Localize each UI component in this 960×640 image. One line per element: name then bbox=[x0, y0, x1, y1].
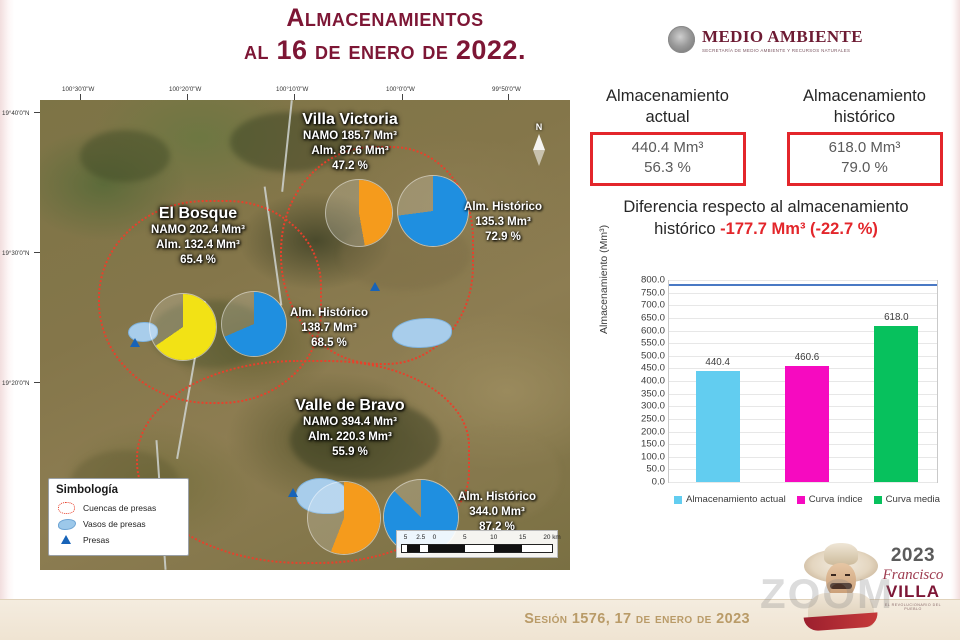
dam-label-el-bosque: El Bosque NAMO 202.4 Mm³ Alm. 132.4 Mm³ … bbox=[98, 204, 298, 268]
chart-y-tick-15: 750.0 bbox=[641, 287, 665, 298]
chart-bar-1[interactable] bbox=[785, 366, 829, 482]
storage-bar-chart: Almacenamiento (Mm³) 0.050.0100.0150.020… bbox=[600, 272, 950, 540]
lon-tick-4: 99°50'0"W bbox=[492, 86, 521, 93]
chart-bar-label-1: 460.6 bbox=[775, 352, 839, 363]
compass-rose-icon: N bbox=[522, 122, 556, 168]
hist-label-villa-victoria: Alm. Histórico 135.3 Mm³ 72.9 % bbox=[438, 200, 568, 245]
map-axis-frame: 100°30'0"W 100°20'0"W 100°10'0"W 100°0'0… bbox=[14, 82, 576, 588]
chart-gridline-16: 800.0 bbox=[669, 280, 937, 281]
basin-outline-icon bbox=[56, 501, 76, 514]
map-panel: 100°30'0"W 100°20'0"W 100°10'0"W 100°0'0… bbox=[14, 82, 576, 588]
session-label: Sesión 1576, 17 de enero de 2023 bbox=[524, 611, 750, 627]
pie-current-el-bosque bbox=[150, 294, 216, 360]
chart-y-axis-label: Almacenamiento (Mm³) bbox=[598, 225, 610, 334]
kpi-historic-box: 618.0 Mm³ 79.0 % bbox=[787, 132, 943, 186]
chart-y-tick-13: 650.0 bbox=[641, 312, 665, 323]
kpi-historic-heading-1: Almacenamiento bbox=[777, 86, 952, 107]
chart-y-tick-9: 450.0 bbox=[641, 363, 665, 374]
dam-namo-villa-victoria: NAMO 185.7 Mm³ bbox=[230, 129, 470, 144]
chart-bar-label-0: 440.4 bbox=[686, 357, 750, 368]
hist-pct-el-bosque: 68.5 % bbox=[264, 336, 394, 351]
slide-footer: Sesión 1576, 17 de enero de 2023 2023 Fr… bbox=[0, 599, 960, 640]
chart-y-tick-10: 500.0 bbox=[641, 350, 665, 361]
title-line-1: Almacenamientos bbox=[170, 2, 600, 34]
chart-legend: Almacenamiento actual Curva índice Curva… bbox=[666, 494, 948, 505]
dam-namo-valle-de-bravo: NAMO 394.4 Mm³ bbox=[230, 415, 470, 430]
chart-reference-line-namo bbox=[669, 284, 937, 286]
gov-logo-text: MEDIO AMBIENTE SECRETARÍA DE MEDIO AMBIE… bbox=[702, 27, 863, 53]
scale-tick-4: 10 bbox=[490, 534, 497, 541]
chart-legend-label-2: Curva media bbox=[886, 494, 940, 505]
hist-pct-villa-victoria: 72.9 % bbox=[438, 230, 568, 245]
pie-current-valle-de-bravo bbox=[308, 482, 380, 554]
dam-marker-el-bosque bbox=[130, 338, 140, 347]
gov-logo-title: MEDIO AMBIENTE bbox=[702, 27, 863, 47]
lat-tick-0: 19°40'0"N bbox=[2, 110, 30, 117]
scale-tick-1: 2.5 bbox=[416, 534, 425, 541]
hist-label-valle-de-bravo: Alm. Histórico 344.0 Mm³ 87.2 % bbox=[430, 490, 564, 535]
legend-item-dams: Presas bbox=[56, 533, 181, 546]
difference-line-2: histórico -177.7 Mm³ (-22.7 %) bbox=[580, 218, 952, 240]
legend-label-basins: Cuencas de presas bbox=[83, 503, 156, 513]
hist-title-el-bosque: Alm. Histórico bbox=[264, 306, 394, 321]
dam-label-villa-victoria: Villa Victoria NAMO 185.7 Mm³ Alm. 87.6 … bbox=[230, 110, 470, 174]
compass-north-label: N bbox=[522, 122, 556, 132]
chart-gridline-15: 750.0 bbox=[669, 293, 937, 294]
chart-y-tick-7: 350.0 bbox=[641, 388, 665, 399]
lon-tick-1: 100°20'0"W bbox=[169, 86, 201, 93]
chart-legend-item-0: Almacenamiento actual bbox=[674, 494, 786, 505]
difference-value: -177.7 Mm³ (-22.7 %) bbox=[720, 220, 878, 238]
kpi-row: Almacenamiento actual 440.4 Mm³ 56.3 % A… bbox=[580, 86, 952, 186]
chart-y-tick-11: 550.0 bbox=[641, 337, 665, 348]
chart-y-tick-0: 0.0 bbox=[652, 476, 665, 487]
lon-tick-2: 100°10'0"W bbox=[276, 86, 308, 93]
scale-tick-3: 5 bbox=[463, 534, 467, 541]
scale-tick-2: 0 bbox=[433, 534, 437, 541]
title-year: 2022. bbox=[456, 35, 526, 65]
hist-value-villa-victoria: 135.3 Mm³ bbox=[438, 215, 568, 230]
kpi-current-percent: 56.3 % bbox=[593, 158, 743, 178]
chart-y-tick-12: 600.0 bbox=[641, 325, 665, 336]
legend-label-dams: Presas bbox=[83, 535, 109, 545]
chart-bar-0[interactable] bbox=[696, 371, 740, 482]
scale-numbers: 5 2.5 0 5 10 15 20 km bbox=[401, 534, 553, 544]
title-middle: de enero de bbox=[315, 37, 448, 65]
dam-marker-valle-de-bravo bbox=[288, 488, 298, 497]
hist-value-el-bosque: 138.7 Mm³ bbox=[264, 321, 394, 336]
kpi-historic-storage: Almacenamiento histórico 618.0 Mm³ 79.0 … bbox=[777, 86, 952, 186]
hist-title-villa-victoria: Alm. Histórico bbox=[438, 200, 568, 215]
zoom-watermark: ZOOM bbox=[760, 570, 894, 618]
dam-alm-villa-victoria: Alm. 87.6 Mm³ bbox=[230, 144, 470, 159]
chart-y-tick-5: 250.0 bbox=[641, 413, 665, 424]
title-prefix: al bbox=[244, 37, 269, 65]
chart-gridline-14: 700.0 bbox=[669, 305, 937, 306]
reservoir-villa-victoria bbox=[392, 318, 452, 348]
chart-y-tick-3: 150.0 bbox=[641, 438, 665, 449]
chart-bar-2[interactable] bbox=[874, 326, 918, 482]
kpi-historic-volume: 618.0 Mm³ bbox=[790, 138, 940, 158]
difference-line-1: Diferencia respecto al almacenamiento bbox=[580, 196, 952, 218]
dam-name-villa-victoria: Villa Victoria bbox=[230, 110, 470, 129]
scale-bar-graphic bbox=[401, 544, 553, 553]
chart-legend-item-1: Curva índice bbox=[797, 494, 863, 505]
metrics-panel: Almacenamiento actual 440.4 Mm³ 56.3 % A… bbox=[580, 86, 952, 240]
chart-y-tick-4: 200.0 bbox=[641, 426, 665, 437]
legend-item-basins: Cuencas de presas bbox=[56, 501, 181, 514]
chart-y-tick-2: 100.0 bbox=[641, 451, 665, 462]
dam-triangle-icon bbox=[56, 533, 76, 546]
kpi-current-storage: Almacenamiento actual 440.4 Mm³ 56.3 % bbox=[580, 86, 755, 186]
dam-alm-el-bosque: Alm. 132.4 Mm³ bbox=[98, 238, 298, 253]
dam-pct-villa-victoria: 47.2 % bbox=[230, 159, 470, 174]
lon-tick-0: 100°30'0"W bbox=[62, 86, 94, 93]
slide-left-edge bbox=[0, 0, 14, 600]
chart-bar-label-2: 618.0 bbox=[864, 312, 928, 323]
map-scale-bar: 5 2.5 0 5 10 15 20 km bbox=[396, 530, 558, 558]
lat-tick-1: 19°30'0"N bbox=[2, 250, 30, 257]
scale-unit: km bbox=[552, 534, 561, 541]
dam-namo-el-bosque: NAMO 202.4 Mm³ bbox=[98, 223, 298, 238]
chart-y-tick-14: 700.0 bbox=[641, 300, 665, 311]
reservoir-polygon-icon bbox=[56, 517, 76, 530]
difference-prefix: histórico bbox=[654, 220, 715, 238]
chart-y-tick-1: 50.0 bbox=[646, 464, 665, 475]
hist-title-valle-de-bravo: Alm. Histórico bbox=[430, 490, 564, 505]
villa-year: 2023 bbox=[880, 545, 946, 567]
legend-item-reservoirs: Vasos de presas bbox=[56, 517, 181, 530]
chart-y-tick-6: 300.0 bbox=[641, 401, 665, 412]
scale-tick-0: 5 bbox=[404, 534, 408, 541]
scale-tick-6: 20 bbox=[543, 534, 550, 541]
chart-legend-label-0: Almacenamiento actual bbox=[686, 494, 786, 505]
chart-legend-swatch-2 bbox=[874, 496, 882, 504]
dam-pct-valle-de-bravo: 55.9 % bbox=[230, 445, 470, 460]
difference-statement: Diferencia respecto al almacenamiento hi… bbox=[580, 196, 952, 240]
title-line-2: al 16 de enero de 2022. bbox=[170, 34, 600, 67]
page-title: Almacenamientos al 16 de enero de 2022. bbox=[170, 2, 600, 67]
title-day: 16 bbox=[277, 35, 308, 65]
gov-logo-subtitle: SECRETARÍA DE MEDIO AMBIENTE Y RECURSOS … bbox=[702, 48, 863, 53]
dam-name-el-bosque: El Bosque bbox=[98, 204, 298, 223]
chart-legend-swatch-1 bbox=[797, 496, 805, 504]
kpi-current-box: 440.4 Mm³ 56.3 % bbox=[590, 132, 746, 186]
lat-tick-2: 19°20'0"N bbox=[2, 380, 30, 387]
compass-needle-up bbox=[533, 134, 545, 150]
lon-tick-3: 100°0'0"W bbox=[386, 86, 415, 93]
satellite-map-image[interactable]: Villa Victoria NAMO 185.7 Mm³ Alm. 87.6 … bbox=[40, 100, 570, 570]
dam-marker-villa-victoria bbox=[370, 282, 380, 291]
scale-tick-5: 15 bbox=[519, 534, 526, 541]
chart-y-tick-16: 800.0 bbox=[641, 274, 665, 285]
presentation-slide: Almacenamientos al 16 de enero de 2022. … bbox=[0, 0, 960, 640]
kpi-historic-percent: 79.0 % bbox=[790, 158, 940, 178]
kpi-current-heading-1: Almacenamiento bbox=[580, 86, 755, 107]
hist-label-el-bosque: Alm. Histórico 138.7 Mm³ 68.5 % bbox=[264, 306, 394, 351]
pie-current-villa-victoria bbox=[326, 180, 392, 246]
hist-value-valle-de-bravo: 344.0 Mm³ bbox=[430, 505, 564, 520]
government-logo: MEDIO AMBIENTE SECRETARÍA DE MEDIO AMBIE… bbox=[668, 26, 863, 53]
chart-plot-area: 0.050.0100.0150.0200.0250.0300.0350.0400… bbox=[668, 280, 938, 483]
kpi-current-volume: 440.4 Mm³ bbox=[593, 138, 743, 158]
dam-label-valle-de-bravo: Valle de Bravo NAMO 394.4 Mm³ Alm. 220.3… bbox=[230, 396, 470, 460]
map-legend: Simbología Cuencas de presas Vasos de pr… bbox=[48, 478, 189, 556]
compass-needle-down bbox=[533, 150, 545, 166]
chart-legend-swatch-0 bbox=[674, 496, 682, 504]
chart-legend-label-1: Curva índice bbox=[809, 494, 863, 505]
chart-gridline-0: 0.0 bbox=[669, 482, 937, 483]
dam-pct-el-bosque: 65.4 % bbox=[98, 253, 298, 268]
chart-y-tick-8: 400.0 bbox=[641, 375, 665, 386]
legend-label-reservoirs: Vasos de presas bbox=[83, 519, 146, 529]
dam-alm-valle-de-bravo: Alm. 220.3 Mm³ bbox=[230, 430, 470, 445]
chart-legend-item-2: Curva media bbox=[874, 494, 940, 505]
kpi-historic-heading-2: histórico bbox=[777, 107, 952, 128]
kpi-current-heading-2: actual bbox=[580, 107, 755, 128]
legend-title: Simbología bbox=[56, 484, 181, 496]
mexico-eagle-seal-icon bbox=[668, 26, 695, 53]
dam-name-valle-de-bravo: Valle de Bravo bbox=[230, 396, 470, 415]
